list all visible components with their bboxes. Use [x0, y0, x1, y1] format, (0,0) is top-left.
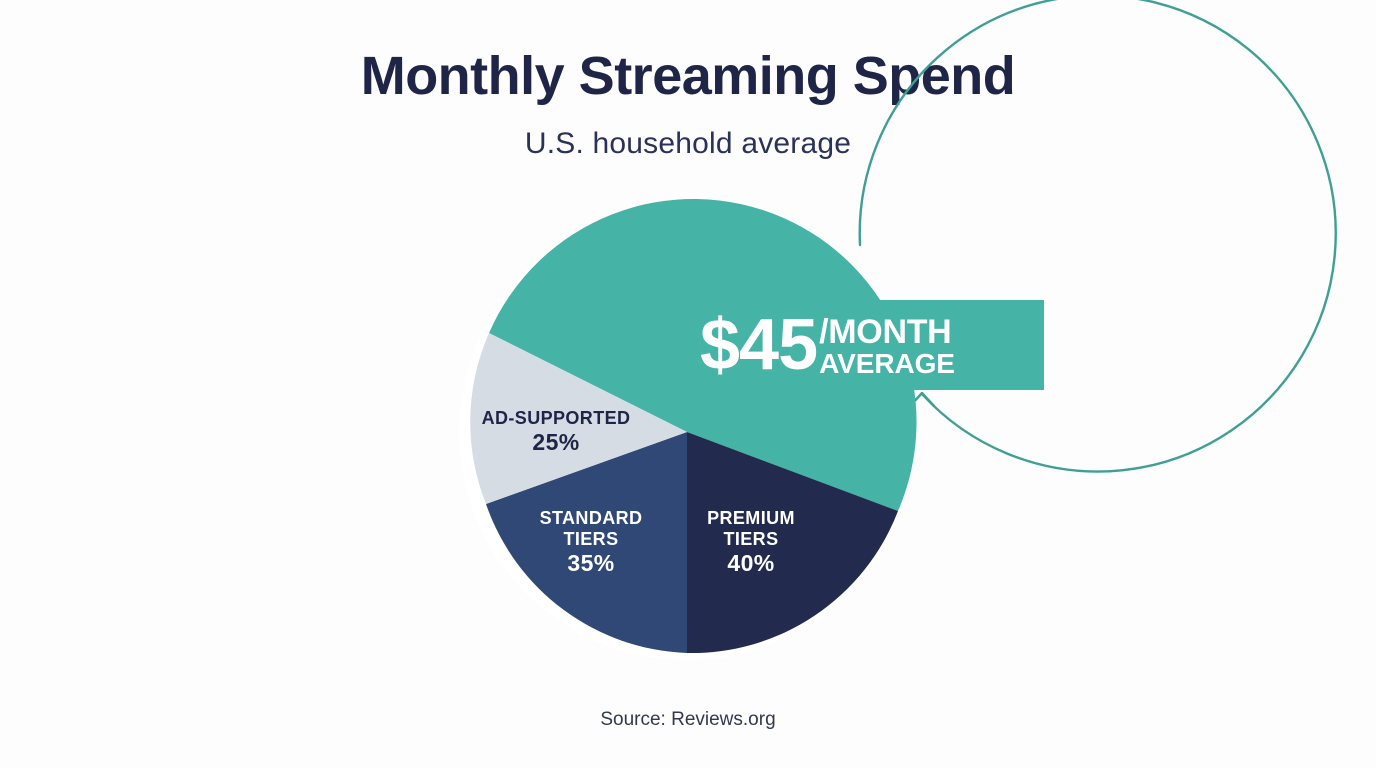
- source-attribution: Source: Reviews.org: [0, 709, 1376, 731]
- decorative-ring-arc: [860, 0, 1336, 471]
- pie-chart: AD-SUPPORTED 25% STANDARD TIERS 35% PREM…: [0, 0, 1376, 768]
- infographic-canvas: Monthly Streaming Spend U.S. household a…: [0, 0, 1376, 768]
- pie-chart-svg: [0, 0, 1376, 768]
- callout-banner: [868, 300, 1044, 390]
